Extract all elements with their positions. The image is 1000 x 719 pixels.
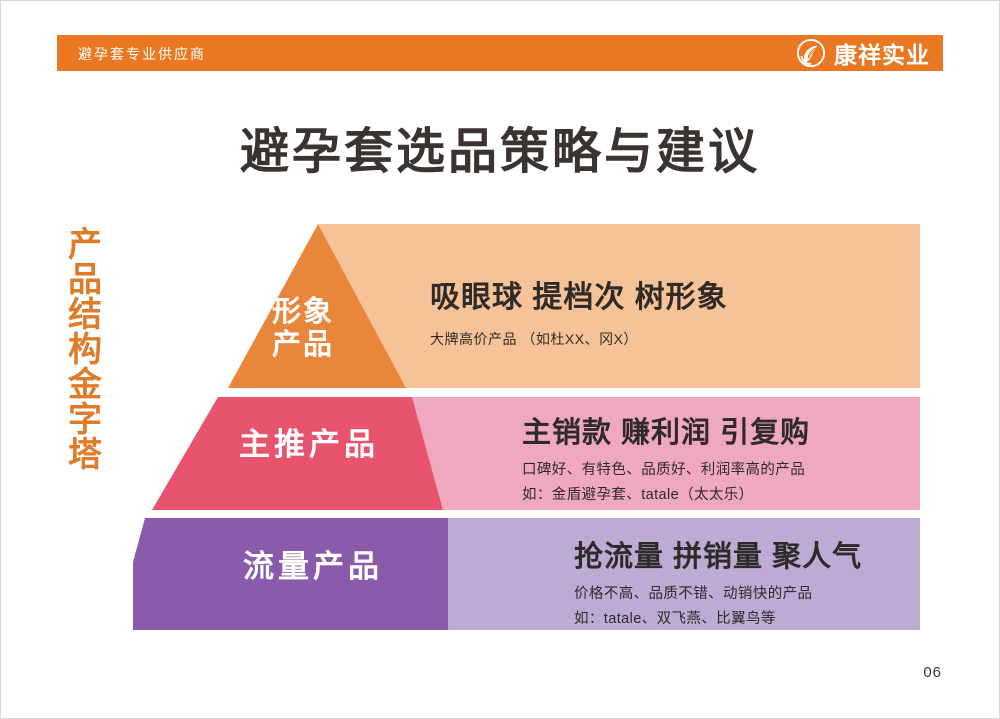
page-number: 06: [923, 664, 942, 681]
tier-1-copy: 吸眼球 提档次 树形象 大牌高价产品 （如杜XX、冈X）: [430, 272, 728, 349]
side-label-char: 金: [63, 368, 107, 403]
brand-name: 康祥实业: [834, 36, 930, 70]
side-label-char: 构: [63, 333, 107, 368]
tier-1-name-line: 形象: [272, 296, 334, 329]
swirl-leaf-logo-icon: [796, 38, 826, 68]
tier-3-subline: 价格不高、品质不错、动销快的产品: [574, 582, 862, 607]
header-tagline: 避孕套专业供应商: [78, 44, 206, 64]
side-label-char: 结: [63, 298, 107, 333]
tier-2-headline: 主销款 赚利润 引复购: [522, 409, 810, 451]
tier-2-subline: 如：金盾避孕套、tatale（太太乐）: [522, 483, 810, 508]
page-title: 避孕套选品策略与建议: [0, 112, 1000, 183]
tier-3-copy: 抢流量 拼销量 聚人气 价格不高、品质不错、动销快的产品 如：tatale、双飞…: [574, 533, 862, 633]
side-label: 产 品 结 构 金 字 塔: [63, 228, 107, 473]
tier-2-subline: 口碑好、有特色、品质好、利润率高的产品: [522, 458, 810, 483]
tier-2-name: 主推产品: [239, 428, 379, 463]
side-label-char: 塔: [63, 438, 107, 473]
side-label-char: 字: [63, 403, 107, 438]
side-label-char: 品: [63, 263, 107, 298]
tier-3-name: 流量产品: [243, 550, 383, 585]
tier-1-subline: 大牌高价产品 （如杜XX、冈X）: [430, 329, 728, 349]
tier-2-copy: 主销款 赚利润 引复购 口碑好、有特色、品质好、利润率高的产品 如：金盾避孕套、…: [522, 409, 810, 509]
tier-1-name: 形象 产品: [272, 296, 334, 362]
brand-logo: 康祥实业: [796, 38, 930, 68]
side-label-char: 产: [63, 228, 107, 263]
tier-1-headline: 吸眼球 提档次 树形象: [430, 272, 728, 316]
tier-3-headline: 抢流量 拼销量 聚人气: [574, 533, 862, 575]
tier-3-subline: 如：tatale、双飞燕、比翼鸟等: [574, 607, 862, 632]
slide: 避孕套专业供应商 康祥实业 避孕套选品策略与建议 产 品 结 构 金 字 塔: [0, 0, 1000, 719]
tier-1-name-line: 产品: [272, 329, 334, 362]
